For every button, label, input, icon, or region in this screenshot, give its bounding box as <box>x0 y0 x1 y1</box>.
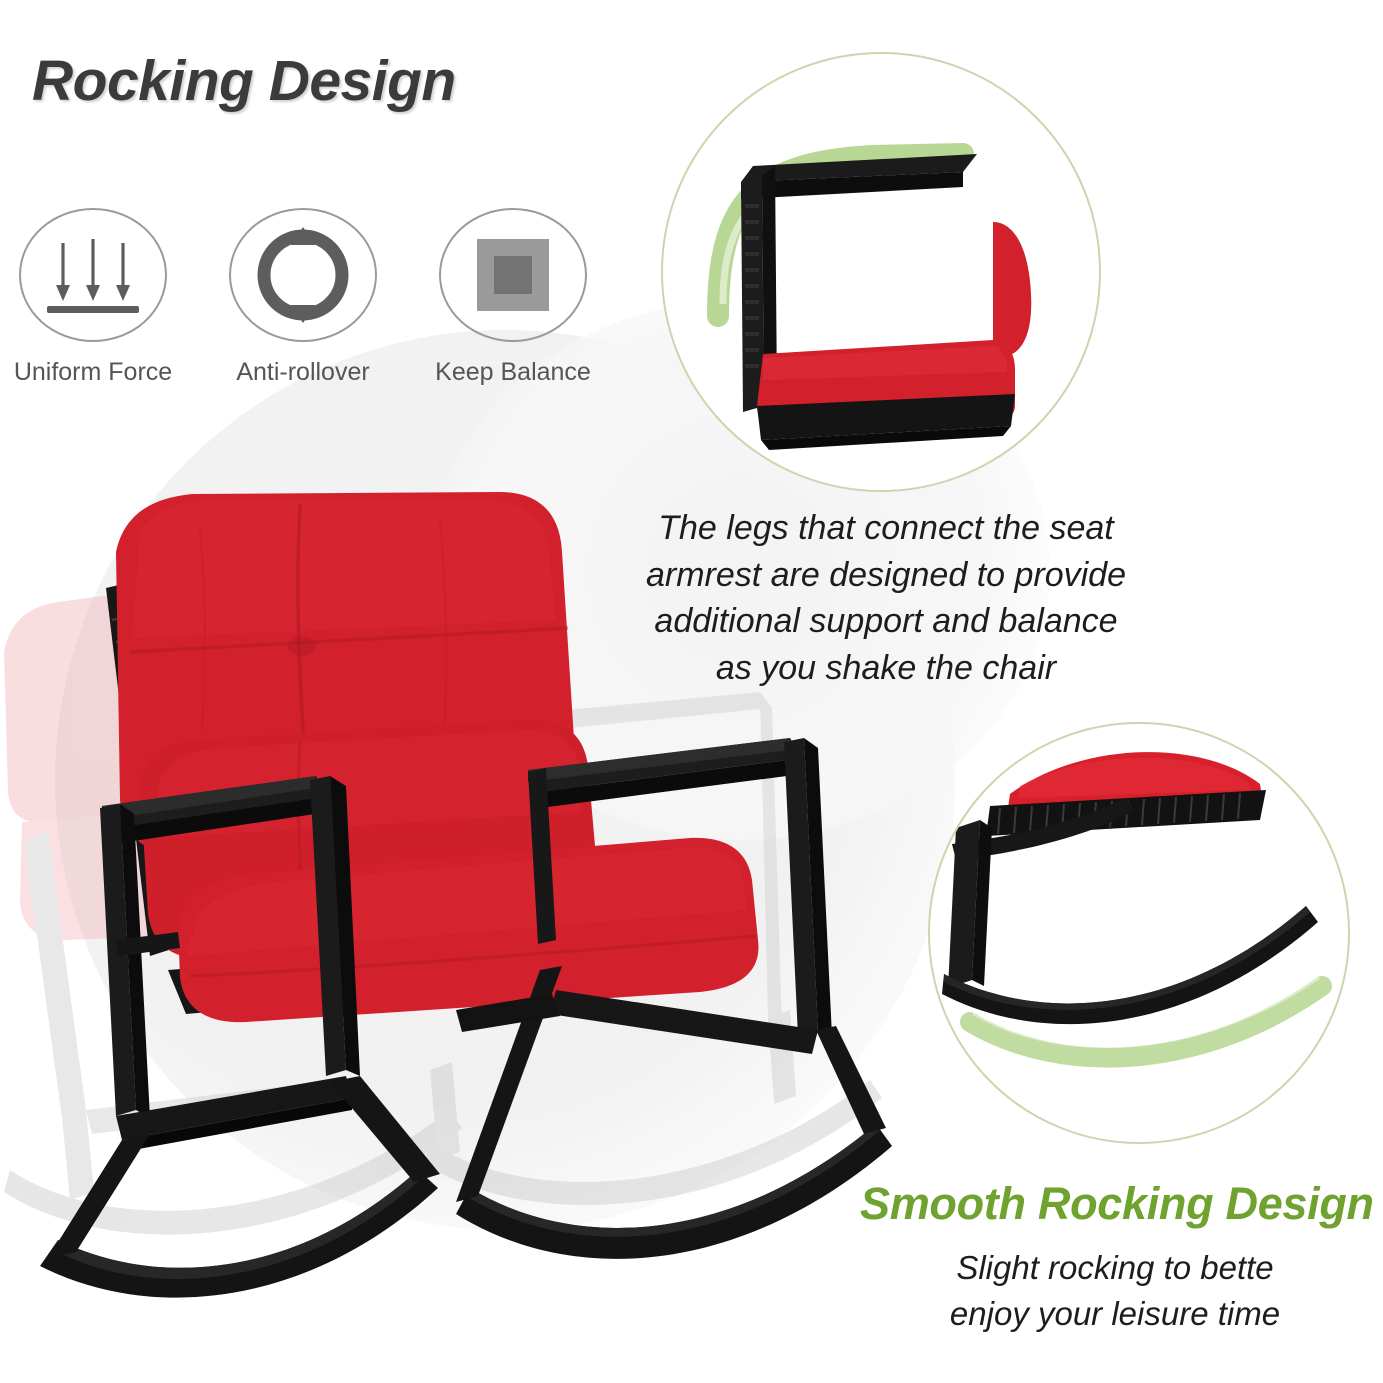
callout-line: armrest are designed to provide <box>596 552 1176 599</box>
feature-label: Keep Balance <box>435 358 591 387</box>
callout-line: enjoy your leisure time <box>880 1291 1350 1337</box>
down-arrows-force-icon <box>19 208 167 342</box>
feature-keep-balance: Keep Balance <box>440 208 586 387</box>
callout-line: The legs that connect the seat <box>596 505 1176 552</box>
smooth-rocking-heading: Smooth Rocking Design <box>860 1178 1374 1230</box>
inset-rocker-detail <box>928 722 1350 1144</box>
page-title: Rocking Design <box>32 48 456 114</box>
feature-uniform-force: Uniform Force <box>20 208 166 387</box>
feature-label: Uniform Force <box>14 358 172 387</box>
rotation-arrows-icon <box>229 208 377 342</box>
feature-icon-row: Uniform Force Anti-rollover <box>20 208 586 387</box>
callout-line: Slight rocking to bette <box>880 1245 1350 1291</box>
infographic-canvas: Rocking Design U <box>0 0 1383 1383</box>
callout-line: additional support and balance <box>596 598 1176 645</box>
callout-bottom-text: Slight rocking to bette enjoy your leisu… <box>880 1245 1350 1337</box>
nested-squares-balance-icon <box>439 208 587 342</box>
feature-anti-rollover: Anti-rollover <box>230 208 376 387</box>
inset-armrest-detail <box>661 52 1101 492</box>
callout-top-text: The legs that connect the seat armrest a… <box>596 505 1176 691</box>
callout-line: as you shake the chair <box>596 645 1176 692</box>
feature-label: Anti-rollover <box>236 358 369 387</box>
